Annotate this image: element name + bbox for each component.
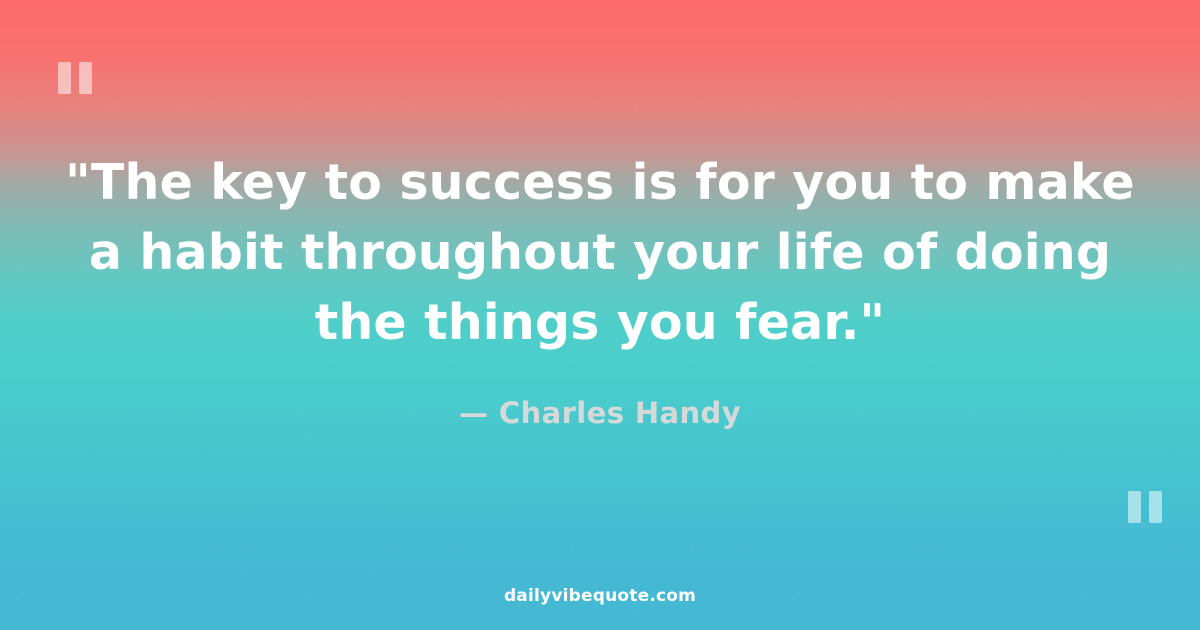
quote-text: "The key to success is for you to make a… (42, 148, 1158, 358)
quote-bar-right (1149, 491, 1162, 523)
quote-card: "The key to success is for you to make a… (0, 0, 1200, 630)
quote-bar-left (58, 62, 71, 94)
site-watermark: dailyvibequote.com (0, 586, 1200, 606)
quote-mark-icon-bottom-right (1128, 491, 1162, 523)
quote-bar-left (1128, 491, 1141, 523)
quote-bar-right (79, 62, 92, 94)
quote-mark-icon-top-left (58, 62, 92, 94)
quote-body: "The key to success is for you to make a… (0, 148, 1200, 358)
quote-attribution: — Charles Handy (0, 396, 1200, 430)
